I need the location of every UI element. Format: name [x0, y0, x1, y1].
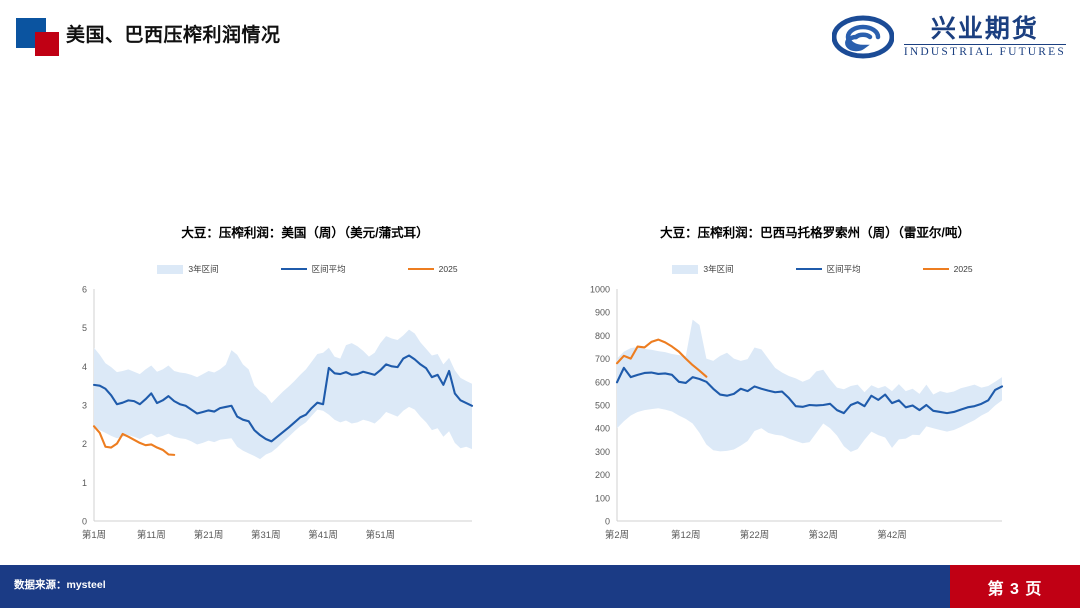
svg-text:第41周: 第41周: [308, 529, 338, 541]
legend-item-average: 区间平均: [281, 263, 346, 275]
legend-current-line-icon: [923, 268, 949, 271]
svg-text:100: 100: [595, 493, 610, 503]
svg-text:第32周: 第32周: [808, 529, 838, 541]
legend-average-line-icon: [281, 268, 307, 271]
svg-text:200: 200: [595, 470, 610, 480]
legend-item-current: 2025: [923, 264, 973, 274]
svg-text:1000: 1000: [590, 285, 610, 295]
legend-current-line-icon: [408, 268, 434, 271]
chart-legend-us: 3年区间 区间平均 2025: [60, 263, 530, 275]
plot-svg-us: 0123456第1周第11周第21周第31周第41周第51周: [60, 283, 530, 551]
logo-mark: [16, 18, 62, 56]
svg-text:第22周: 第22周: [740, 529, 770, 541]
svg-text:第31周: 第31周: [251, 529, 281, 541]
legend-average-label: 区间平均: [312, 263, 346, 275]
brand-divider: [904, 44, 1066, 45]
page-header: 美国、巴西压榨利润情况 兴业期货 INDUSTRIAL FUTURES: [0, 0, 1080, 75]
svg-text:600: 600: [595, 377, 610, 387]
plot-area-brazil: 01002003004005006007008009001000第2周第12周第…: [565, 283, 1055, 551]
legend-current-label: 2025: [954, 264, 973, 274]
svg-text:700: 700: [595, 354, 610, 364]
legend-band-label: 3年区间: [703, 263, 733, 275]
svg-text:300: 300: [595, 447, 610, 457]
brand-name-cn: 兴业期货: [931, 16, 1039, 42]
brand-text: 兴业期货 INDUSTRIAL FUTURES: [904, 16, 1066, 59]
chart-title-us: 大豆：压榨利润：美国（周）（美元/蒲式耳）: [60, 222, 530, 241]
legend-band-swatch-icon: [672, 265, 698, 274]
legend-band-swatch-icon: [157, 265, 183, 274]
brand-name-en: INDUSTRIAL FUTURES: [904, 46, 1066, 59]
legend-current-label: 2025: [439, 264, 458, 274]
svg-text:第11周: 第11周: [137, 529, 166, 541]
svg-text:400: 400: [595, 424, 610, 434]
plot-area-us: 0123456第1周第11周第21周第31周第41周第51周: [60, 283, 530, 551]
svg-text:800: 800: [595, 331, 610, 341]
svg-text:1: 1: [82, 478, 87, 488]
svg-text:0: 0: [82, 517, 87, 527]
svg-text:第1周: 第1周: [82, 529, 106, 541]
chart-panel-brazil: 大豆：压榨利润：巴西马托格罗索州（周）（雷亚尔/吨） 3年区间 区间平均 202…: [565, 222, 1055, 542]
logo-square-red-icon: [35, 32, 59, 56]
legend-item-band: 3年区间: [157, 263, 218, 275]
chart-legend-brazil: 3年区间 区间平均 2025: [565, 263, 1055, 275]
legend-band-label: 3年区间: [188, 263, 218, 275]
legend-average-label: 区间平均: [827, 263, 861, 275]
svg-text:第42周: 第42周: [877, 529, 907, 541]
legend-average-line-icon: [796, 268, 822, 271]
company-emblem-icon: [832, 15, 894, 59]
legend-item-average: 区间平均: [796, 263, 861, 275]
footer-bar: [0, 565, 1080, 608]
legend-item-band: 3年区间: [672, 263, 733, 275]
svg-text:第51周: 第51周: [366, 529, 396, 541]
chart-title-brazil: 大豆：压榨利润：巴西马托格罗索州（周）（雷亚尔/吨）: [565, 222, 1055, 241]
svg-text:第2周: 第2周: [605, 529, 629, 541]
svg-text:2: 2: [82, 439, 87, 449]
svg-text:3: 3: [82, 401, 87, 411]
svg-text:900: 900: [595, 308, 610, 318]
svg-text:5: 5: [82, 323, 87, 333]
svg-text:6: 6: [82, 285, 87, 295]
svg-text:4: 4: [82, 362, 87, 372]
plot-svg-brazil: 01002003004005006007008009001000第2周第12周第…: [565, 283, 1055, 551]
svg-text:0: 0: [605, 517, 610, 527]
svg-text:第12周: 第12周: [671, 529, 701, 541]
svg-text:500: 500: [595, 401, 610, 411]
footer-data-source: 数据来源：mysteel: [14, 577, 106, 592]
legend-item-current: 2025: [408, 264, 458, 274]
company-brand: 兴业期货 INDUSTRIAL FUTURES: [832, 8, 1066, 66]
svg-text:第21周: 第21周: [194, 529, 224, 541]
page-number-label: 第 3 页: [950, 565, 1080, 608]
page-title: 美国、巴西压榨利润情况: [66, 20, 281, 47]
chart-panel-us: 大豆：压榨利润：美国（周）（美元/蒲式耳） 3年区间 区间平均 2025 012…: [60, 222, 530, 542]
